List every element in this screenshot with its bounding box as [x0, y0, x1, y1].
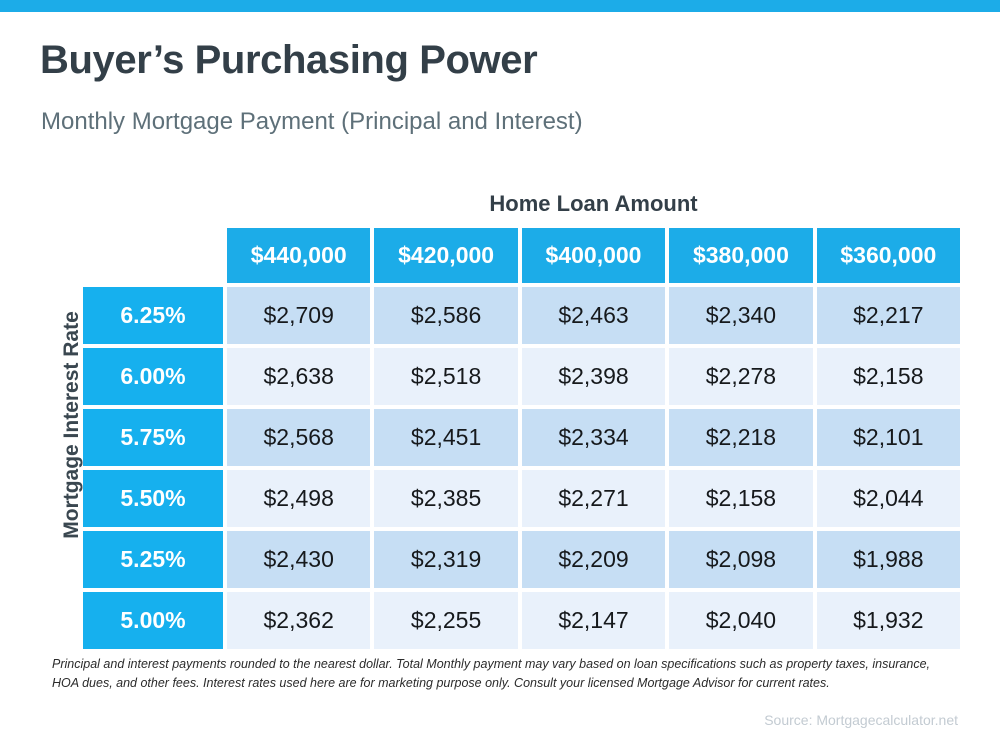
payment-cell: $2,101 [817, 409, 960, 466]
payment-cell: $2,098 [669, 531, 812, 588]
payment-matrix-table: $440,000 $420,000 $400,000 $380,000 $360… [83, 228, 960, 649]
payment-cell: $2,568 [227, 409, 370, 466]
payment-cell: $2,158 [669, 470, 812, 527]
payment-cell: $2,217 [817, 287, 960, 344]
row-header-rate: 6.00% [83, 348, 223, 405]
payment-cell: $2,044 [817, 470, 960, 527]
table-row: 6.00% $2,638 $2,518 $2,398 $2,278 $2,158 [83, 348, 960, 405]
payment-cell: $2,271 [522, 470, 665, 527]
payment-cell: $2,278 [669, 348, 812, 405]
table-corner-cell [83, 228, 223, 283]
payment-cell: $2,638 [227, 348, 370, 405]
payment-cell: $2,451 [374, 409, 517, 466]
payment-cell: $2,319 [374, 531, 517, 588]
column-header: $420,000 [374, 228, 517, 283]
payment-cell: $1,988 [817, 531, 960, 588]
payment-cell: $2,218 [669, 409, 812, 466]
row-header-rate: 6.25% [83, 287, 223, 344]
page-subtitle: Monthly Mortgage Payment (Principal and … [41, 108, 583, 136]
row-header-rate: 5.50% [83, 470, 223, 527]
column-header: $440,000 [227, 228, 370, 283]
column-header: $400,000 [522, 228, 665, 283]
payment-cell: $2,340 [669, 287, 812, 344]
column-group-title: Home Loan Amount [227, 191, 960, 217]
table-row: 6.25% $2,709 $2,586 $2,463 $2,340 $2,217 [83, 287, 960, 344]
row-header-rate: 5.75% [83, 409, 223, 466]
column-header: $360,000 [817, 228, 960, 283]
payment-cell: $2,362 [227, 592, 370, 649]
payment-cell: $2,498 [227, 470, 370, 527]
payment-cell: $2,209 [522, 531, 665, 588]
payment-cell: $2,430 [227, 531, 370, 588]
table-row: 5.25% $2,430 $2,319 $2,209 $2,098 $1,988 [83, 531, 960, 588]
disclaimer-footnote: Principal and interest payments rounded … [52, 655, 942, 694]
page-title: Buyer’s Purchasing Power [40, 38, 537, 83]
table-row: 5.75% $2,568 $2,451 $2,334 $2,218 $2,101 [83, 409, 960, 466]
row-header-rate: 5.00% [83, 592, 223, 649]
payment-cell: $2,518 [374, 348, 517, 405]
table-row: 5.50% $2,498 $2,385 $2,271 $2,158 $2,044 [83, 470, 960, 527]
payment-cell: $2,709 [227, 287, 370, 344]
payment-cell: $2,040 [669, 592, 812, 649]
source-attribution: Source: Mortgagecalculator.net [764, 712, 958, 728]
row-group-title: Mortgage Interest Rate [60, 255, 84, 595]
infographic-canvas: Buyer’s Purchasing Power Monthly Mortgag… [0, 0, 1000, 750]
payment-cell: $2,334 [522, 409, 665, 466]
payment-cell: $2,586 [374, 287, 517, 344]
payment-cell: $2,158 [817, 348, 960, 405]
payment-cell: $1,932 [817, 592, 960, 649]
row-header-rate: 5.25% [83, 531, 223, 588]
payment-cell: $2,463 [522, 287, 665, 344]
payment-cell: $2,147 [522, 592, 665, 649]
table-row: 5.00% $2,362 $2,255 $2,147 $2,040 $1,932 [83, 592, 960, 649]
payment-cell: $2,255 [374, 592, 517, 649]
payment-cell: $2,385 [374, 470, 517, 527]
table-header-row: $440,000 $420,000 $400,000 $380,000 $360… [83, 228, 960, 283]
column-header: $380,000 [669, 228, 812, 283]
payment-cell: $2,398 [522, 348, 665, 405]
top-accent-bar [0, 0, 1000, 12]
